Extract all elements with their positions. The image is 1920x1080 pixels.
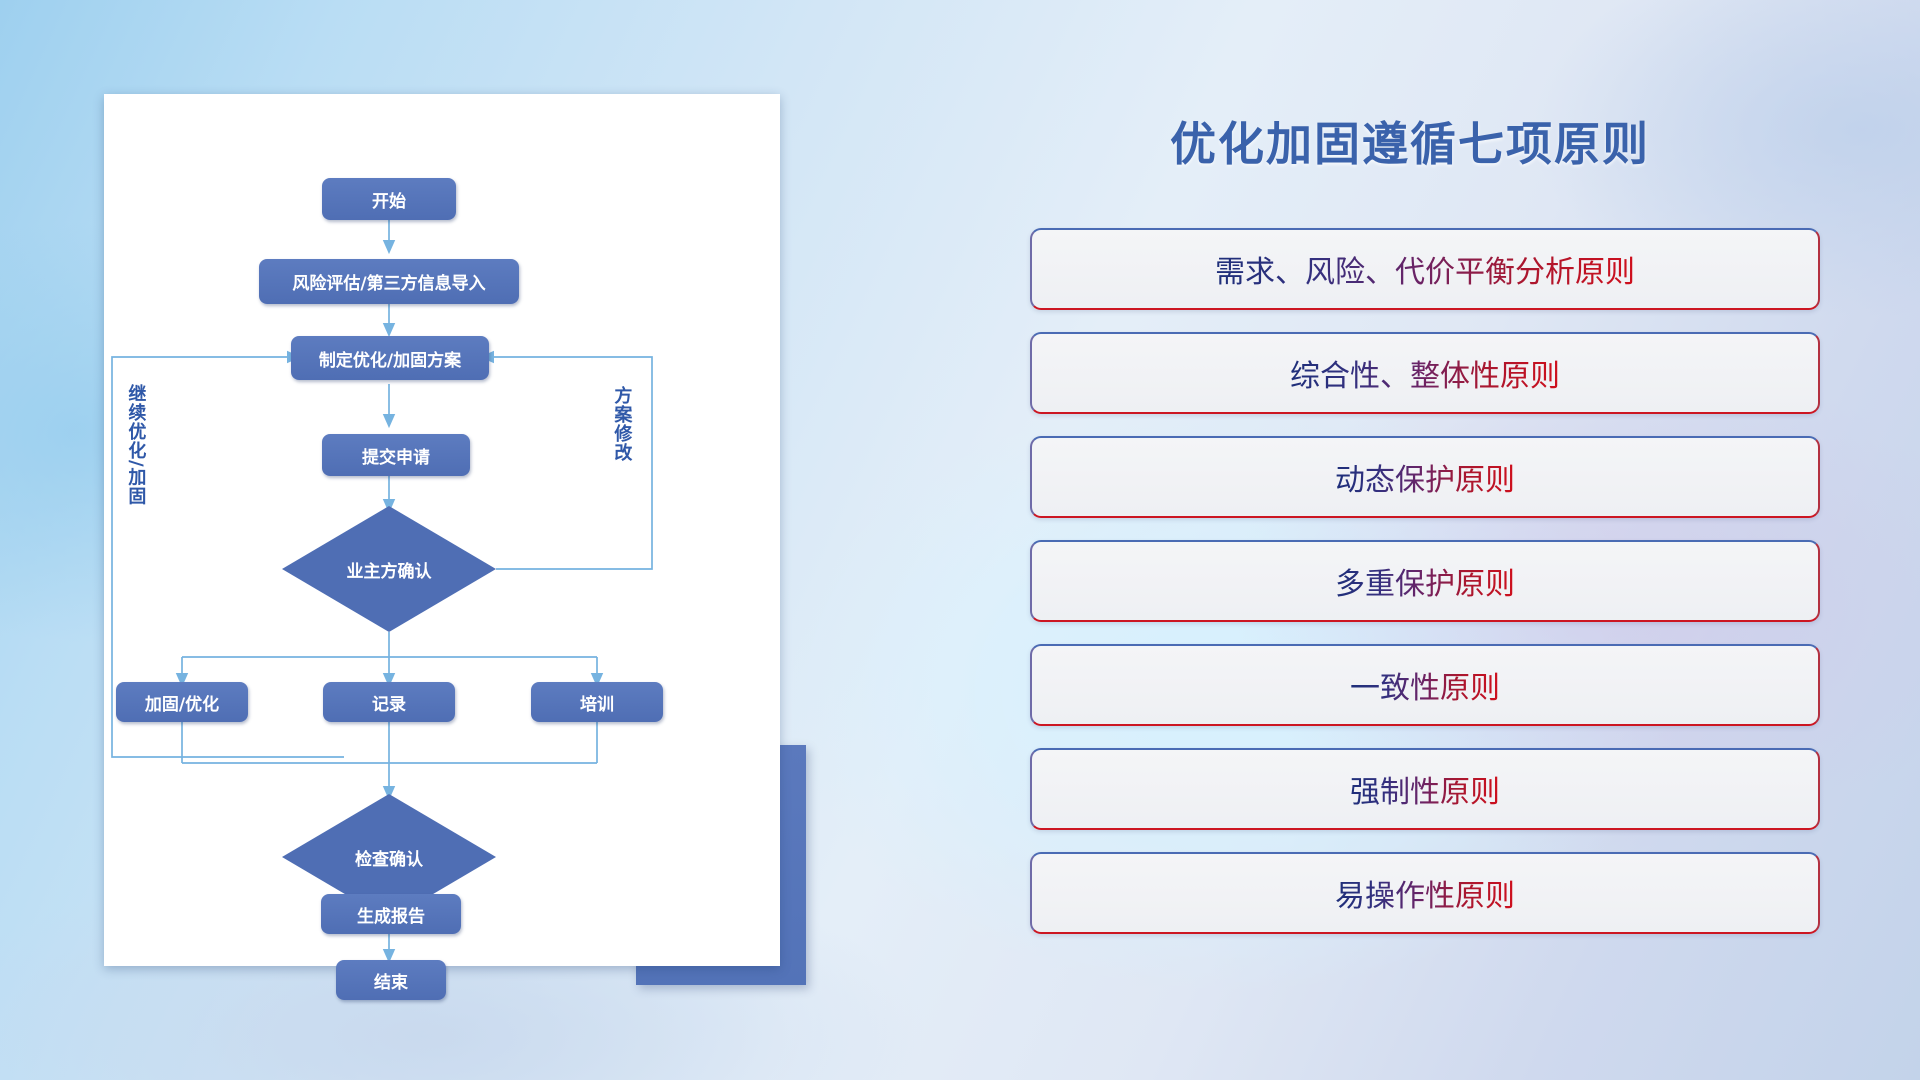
flow-node-label: 开始 [372, 187, 406, 212]
principle-card-3[interactable]: 动态保护原则 [1030, 436, 1820, 518]
flow-node-plan[interactable]: 制定优化/加固方案 [291, 336, 489, 380]
flow-node-label: 风险评估/第三方信息导入 [292, 269, 485, 294]
principle-label: 易操作性原则 [1335, 871, 1515, 915]
flow-decision-owner-confirm[interactable]: 业主方确认 [282, 506, 496, 632]
principles-list: 需求、风险、代价平衡分析原则 综合性、整体性原则 动态保护原则 多重保护原则 一… [1030, 228, 1820, 956]
principle-label: 一致性原则 [1350, 663, 1500, 707]
flow-node-label: 提交申请 [362, 443, 430, 468]
principle-card-1[interactable]: 需求、风险、代价平衡分析原则 [1030, 228, 1820, 310]
flow-edge-label-plan-revision: 方案修改 [612, 386, 630, 506]
flow-node-start[interactable]: 开始 [322, 178, 456, 220]
principle-card-4[interactable]: 多重保护原则 [1030, 540, 1820, 622]
flow-node-label: 培训 [580, 690, 614, 715]
principles-panel: 优化加固遵循七项原则 需求、风险、代价平衡分析原则 综合性、整体性原则 动态保护… [900, 0, 1920, 1080]
principle-label: 多重保护原则 [1335, 559, 1515, 603]
principle-label: 动态保护原则 [1335, 455, 1515, 499]
flowchart-canvas: 开始 风险评估/第三方信息导入 制定优化/加固方案 提交申请 业主方确认 加固/… [104, 94, 780, 966]
flow-edge-label-continue-optimize: 继续优化/加固 [126, 384, 144, 554]
flow-node-label: 记录 [372, 690, 406, 715]
principle-card-6[interactable]: 强制性原则 [1030, 748, 1820, 830]
flow-node-label: 生成报告 [357, 902, 425, 927]
flow-decision-label: 业主方确认 [282, 506, 496, 632]
flow-node-label: 制定优化/加固方案 [319, 346, 461, 371]
flow-node-generate-report[interactable]: 生成报告 [321, 894, 461, 934]
flow-node-training[interactable]: 培训 [531, 682, 663, 722]
flow-node-risk-assessment[interactable]: 风险评估/第三方信息导入 [259, 259, 519, 304]
principle-label: 强制性原则 [1350, 767, 1500, 811]
flow-node-reinforce[interactable]: 加固/优化 [116, 682, 248, 722]
flow-node-label: 结束 [374, 968, 408, 993]
flowchart-panel: 开始 风险评估/第三方信息导入 制定优化/加固方案 提交申请 业主方确认 加固/… [0, 0, 900, 1080]
flow-node-submit-application[interactable]: 提交申请 [322, 434, 470, 476]
principle-card-7[interactable]: 易操作性原则 [1030, 852, 1820, 934]
flow-node-record[interactable]: 记录 [323, 682, 455, 722]
flow-node-end[interactable]: 结束 [336, 960, 446, 1000]
principle-card-2[interactable]: 综合性、整体性原则 [1030, 332, 1820, 414]
principle-card-5[interactable]: 一致性原则 [1030, 644, 1820, 726]
page-title: 优化加固遵循七项原则 [900, 108, 1920, 174]
principle-label: 需求、风险、代价平衡分析原则 [1215, 247, 1635, 291]
flow-node-label: 加固/优化 [145, 690, 219, 715]
principle-label: 综合性、整体性原则 [1290, 351, 1560, 395]
